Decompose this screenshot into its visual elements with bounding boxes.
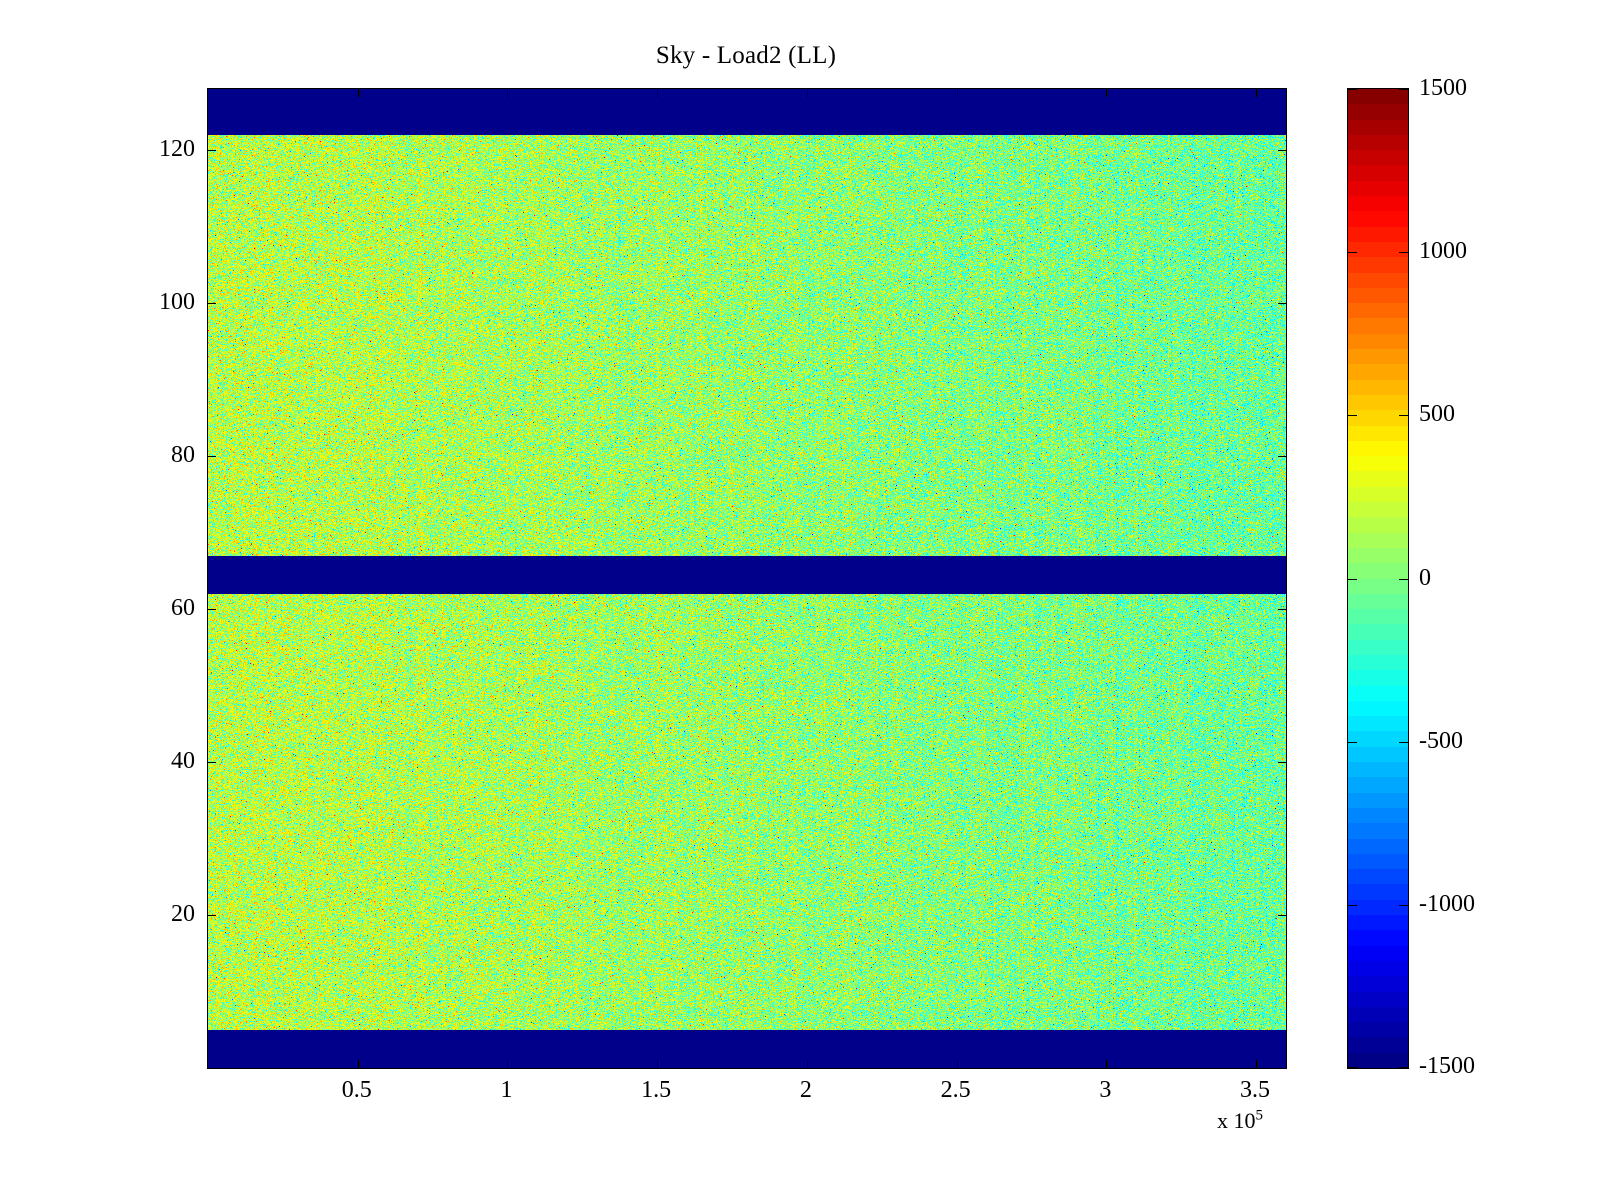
x-tick-label: 3 [1099, 1077, 1111, 1103]
x-tick-mark [1256, 89, 1257, 97]
y-tick-label: 40 [99, 748, 195, 774]
y-tick-mark [208, 609, 216, 610]
y-tick-mark [1278, 915, 1286, 916]
colorbar-tick-mark [1348, 89, 1357, 90]
figure-canvas: Sky - Load2 (LL) 0.511.522.533.5 2040608… [0, 0, 1600, 1200]
y-tick-label: 80 [99, 442, 195, 468]
y-tick-label: 60 [99, 595, 195, 621]
y-tick-label: 120 [99, 136, 195, 162]
x-tick-mark [507, 1060, 508, 1068]
colorbar-tick-mark [1348, 905, 1357, 906]
colorbar-tick-mark [1348, 742, 1357, 743]
x-axis-exponent-label: x 105 [1217, 1109, 1263, 1133]
colorbar-tick-label: 1500 [1419, 75, 1467, 101]
colorbar-tick-label: -1500 [1419, 1053, 1475, 1079]
colorbar-tick-mark [1348, 1067, 1357, 1068]
colorbar-tick-mark [1399, 415, 1408, 416]
x-tick-label: 0.5 [342, 1077, 372, 1103]
colorbar-tick-mark [1399, 252, 1408, 253]
colorbar-tick-mark [1399, 579, 1408, 580]
y-tick-mark [208, 915, 216, 916]
colorbar-tick-label: 500 [1419, 401, 1455, 427]
page-title: Sky - Load2 (LL) [207, 42, 1285, 70]
y-tick-mark [1278, 609, 1286, 610]
x-exponent-mantissa: x 10 [1217, 1108, 1256, 1133]
x-tick-mark [507, 89, 508, 97]
colorbar[interactable] [1347, 88, 1409, 1069]
colorbar-tick-mark [1348, 415, 1357, 416]
colorbar-tick-label: 1000 [1419, 238, 1467, 264]
x-tick-mark [657, 1060, 658, 1068]
y-tick-mark [208, 762, 216, 763]
x-tick-mark [807, 89, 808, 97]
x-tick-mark [358, 89, 359, 97]
x-tick-label: 1.5 [641, 1077, 671, 1103]
heatmap-axes[interactable] [207, 88, 1287, 1069]
x-tick-mark [957, 89, 958, 97]
x-exponent-power: 5 [1256, 1108, 1264, 1124]
y-tick-mark [208, 456, 216, 457]
colorbar-tick-mark [1348, 579, 1357, 580]
colorbar-tick-mark [1348, 252, 1357, 253]
y-tick-mark [208, 150, 216, 151]
colorbar-tick-mark [1399, 905, 1408, 906]
x-tick-label: 2.5 [941, 1077, 971, 1103]
y-tick-label: 100 [99, 289, 195, 315]
x-tick-label: 2 [800, 1077, 812, 1103]
y-tick-mark [208, 303, 216, 304]
x-tick-mark [1106, 89, 1107, 97]
heatmap-image[interactable] [208, 89, 1286, 1068]
x-tick-mark [1106, 1060, 1107, 1068]
y-tick-mark [1278, 303, 1286, 304]
x-tick-mark [957, 1060, 958, 1068]
y-tick-mark [1278, 456, 1286, 457]
y-tick-mark [1278, 150, 1286, 151]
x-tick-mark [1256, 1060, 1257, 1068]
y-tick-mark [1278, 762, 1286, 763]
x-tick-mark [657, 89, 658, 97]
x-tick-label: 3.5 [1240, 1077, 1270, 1103]
colorbar-tick-label: -1000 [1419, 891, 1475, 917]
x-tick-mark [358, 1060, 359, 1068]
colorbar-tick-mark [1399, 89, 1408, 90]
y-tick-label: 20 [99, 901, 195, 927]
x-tick-mark [807, 1060, 808, 1068]
colorbar-tick-mark [1399, 1067, 1408, 1068]
x-tick-label: 1 [500, 1077, 512, 1103]
colorbar-tick-label: 0 [1419, 565, 1431, 591]
colorbar-tick-label: -500 [1419, 728, 1463, 754]
colorbar-tick-mark [1399, 742, 1408, 743]
